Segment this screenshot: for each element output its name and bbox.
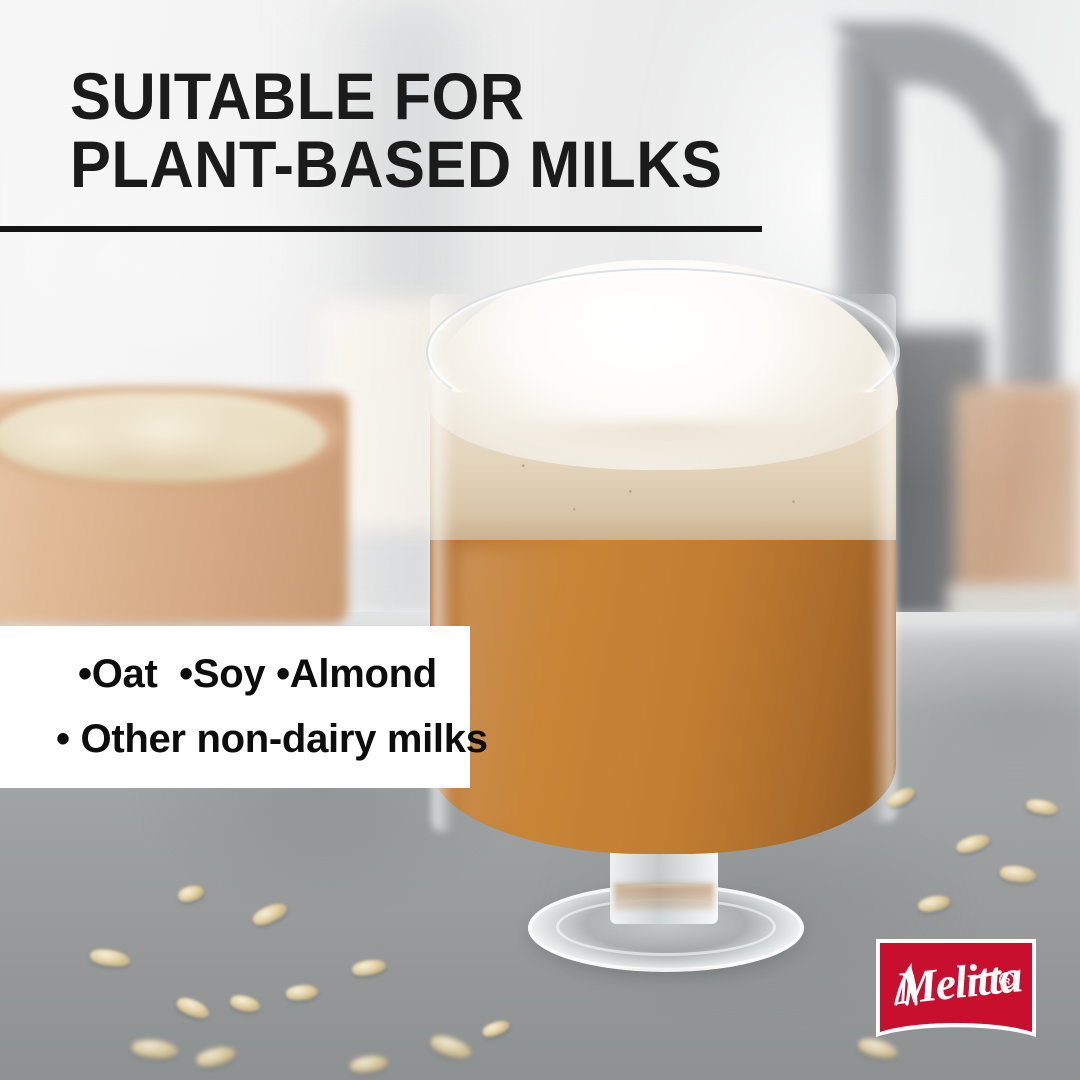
- claims-line-1: •Oat •Soy •Almond: [78, 654, 437, 694]
- oat-flakes-in-bowl: [0, 392, 326, 482]
- claims-band: [0, 626, 470, 788]
- poster-canvas: SUITABLE FOR PLANT-BASED MILKS •Oat •Soy…: [0, 0, 1080, 1080]
- claims-line-2: • Other non-dairy milks: [56, 719, 488, 759]
- foam-lip-shade: [440, 422, 888, 468]
- latte-glass: [418, 272, 908, 972]
- headline-rule: [0, 226, 762, 232]
- page-title: SUITABLE FOR PLANT-BASED MILKS: [70, 62, 888, 198]
- svg-text:R: R: [1004, 976, 1011, 986]
- glass-stem-reflection: [614, 884, 714, 910]
- coffee-highlight: [454, 544, 574, 834]
- melitta-logo: Melitta R: [876, 938, 1036, 1038]
- glass-right-highlight: [870, 352, 896, 822]
